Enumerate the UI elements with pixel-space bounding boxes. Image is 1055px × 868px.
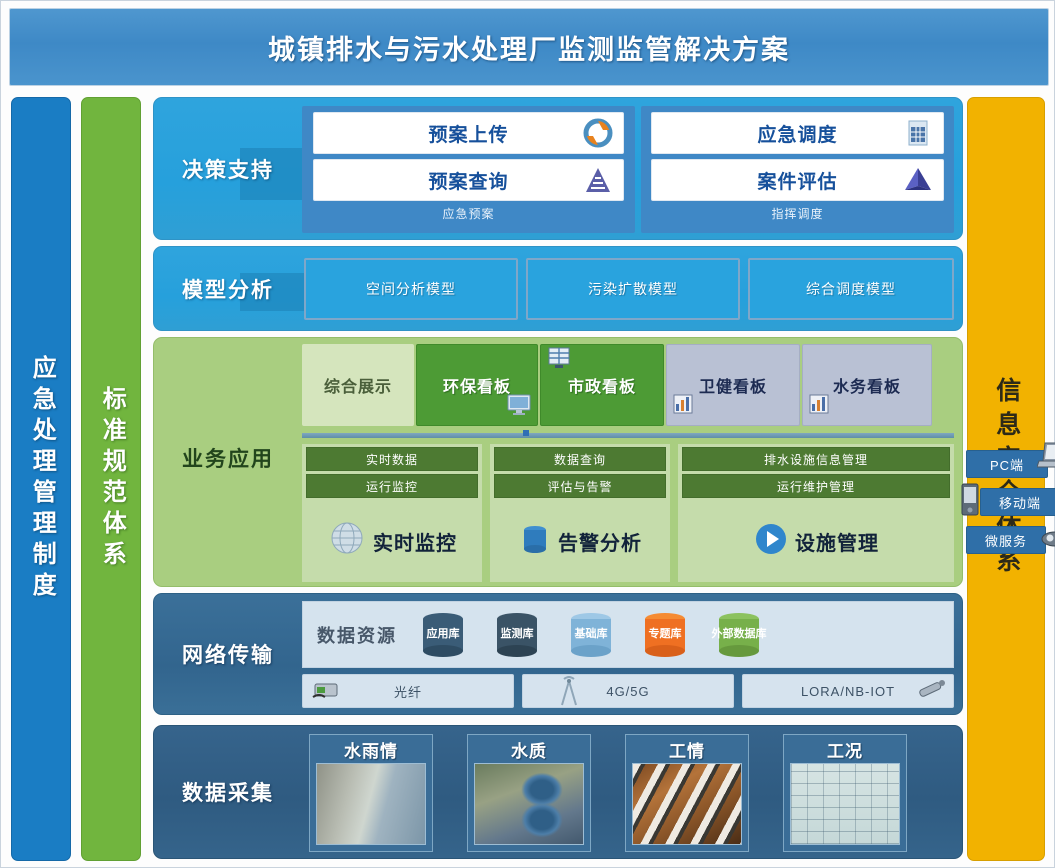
section-label-decision-support: 决策支持: [154, 98, 302, 239]
database-basic[interactable]: 基础库: [563, 611, 619, 659]
business-footer-realtime-monitoring[interactable]: 实时监控: [302, 510, 482, 572]
dashboard-separator-marker: [523, 430, 529, 436]
data-resource-panel: 数据资源 应用库 监测库: [302, 601, 954, 668]
decision-item-label: 预案上传: [428, 120, 508, 147]
grid-table-icon: [903, 118, 933, 148]
dashboard-row: 综合展示 环保看板 市政看板 卫健看板 水务看板: [302, 344, 954, 432]
scada-diagram-photo: [790, 763, 900, 845]
fiber-cable-icon: [311, 679, 341, 706]
decision-group-caption: 应急预案: [442, 205, 494, 222]
sedimentation-tank-photo: [474, 763, 584, 845]
business-tag[interactable]: 数据查询: [494, 447, 666, 471]
sidebar-standards-label: 标准规范体系: [98, 386, 124, 572]
section-data-collection: 数据采集 水雨情 水质 工情 工况: [153, 725, 963, 859]
device-label: PC端: [990, 455, 1024, 474]
dashboard-environment[interactable]: 环保看板: [416, 344, 538, 426]
cylinder-icon: [518, 519, 552, 564]
database-thematic[interactable]: 专题库: [637, 611, 693, 659]
collect-card-title: 工情: [626, 735, 748, 763]
chart-icon: [809, 394, 829, 419]
decision-item-plan-upload[interactable]: 预案上传: [313, 112, 624, 154]
diagram-canvas: 城镇排水与污水处理厂监测监管解决方案 应急处理管理制度 标准规范体系 信息安全体…: [0, 0, 1055, 868]
business-column-alarm: 数据查询 评估与告警 告警分析: [490, 444, 670, 582]
decision-group-caption: 指挥调度: [771, 205, 823, 222]
collect-card-engineering[interactable]: 工情: [625, 734, 749, 852]
river-channel-photo: [316, 763, 426, 845]
business-tag[interactable]: 运行监控: [306, 474, 478, 498]
diagram-title-bar: 城镇排水与污水处理厂监测监管解决方案: [9, 8, 1049, 86]
business-columns: 实时数据 运行监控 实时监控 数据查询 评估与告警 告警分析: [302, 444, 954, 582]
device-mobile[interactable]: 移动端: [980, 488, 1055, 516]
model-box-spatial[interactable]: 空间分析模型: [304, 258, 518, 320]
database-monitoring[interactable]: 监测库: [489, 611, 545, 659]
decision-item-case-evaluation[interactable]: 案件评估: [651, 159, 943, 201]
section-network-transmission: 网络传输 数据资源 应用库 监测库: [153, 593, 963, 715]
transmission-label: 光纤: [394, 682, 422, 701]
database-label: 监测库: [489, 611, 545, 659]
pipeline-trench-photo: [632, 763, 742, 845]
page-title: 城镇排水与污水处理厂监测监管解决方案: [268, 28, 790, 67]
dashboard-label: 市政看板: [568, 373, 636, 397]
database-external[interactable]: 外部数据库: [711, 611, 767, 659]
collect-card-water-quality[interactable]: 水质: [467, 734, 591, 852]
striped-pyramid-icon: [583, 165, 613, 195]
database-label: 应用库: [415, 611, 471, 659]
transmission-row: 光纤 4G/5G LORA/NB-IOT: [302, 674, 954, 708]
dashboard-row-label: 综合展示: [302, 344, 414, 426]
collect-card-title: 工况: [784, 735, 906, 763]
transmission-4g5g[interactable]: 4G/5G: [522, 674, 734, 708]
sensor-probe-icon: [915, 677, 949, 706]
model-box-integrated-dispatch[interactable]: 综合调度模型: [748, 258, 954, 320]
play-circle-icon: [753, 521, 789, 562]
collect-card-operating-condition[interactable]: 工况: [783, 734, 907, 852]
device-label: 移动端: [999, 493, 1041, 512]
device-microservice[interactable]: 微服务: [966, 526, 1046, 554]
business-tag[interactable]: 实时数据: [306, 447, 478, 471]
section-model-analysis: 模型分析 空间分析模型 污染扩散模型 综合调度模型: [153, 246, 963, 331]
dashboard-label: 环保看板: [443, 373, 511, 397]
transmission-fiber[interactable]: 光纤: [302, 674, 514, 708]
sidebar-emergency-label: 应急处理管理制度: [28, 355, 54, 603]
database-label: 专题库: [637, 611, 693, 659]
chart-icon: [673, 394, 693, 419]
globe-icon: [327, 519, 367, 564]
dashboard-water-affairs[interactable]: 水务看板: [802, 344, 932, 426]
laptop-icon: [1037, 441, 1055, 474]
section-label-data-collection: 数据采集: [154, 726, 302, 858]
decision-item-label: 预案查询: [428, 167, 508, 194]
business-footer-label: 告警分析: [558, 527, 642, 556]
section-label-network-transmission: 网络传输: [154, 594, 302, 714]
window-grid-icon: [547, 347, 571, 374]
database-label: 基础库: [563, 611, 619, 659]
business-tag[interactable]: 评估与告警: [494, 474, 666, 498]
device-access-group: PC端 移动端 微服务: [960, 450, 1055, 578]
business-column-facility: 排水设施信息管理 运行维护管理 设施管理: [678, 444, 954, 582]
business-footer-label: 设施管理: [795, 527, 879, 556]
device-label: 微服务: [985, 531, 1027, 550]
collect-card-title: 水雨情: [310, 735, 432, 763]
database-application[interactable]: 应用库: [415, 611, 471, 659]
dashboard-municipal[interactable]: 市政看板: [540, 344, 664, 426]
model-box-pollution-diffusion[interactable]: 污染扩散模型: [526, 258, 740, 320]
business-tag[interactable]: 排水设施信息管理: [682, 447, 950, 471]
section-label-business-application: 业务应用: [154, 408, 302, 508]
service-icon: [1039, 525, 1055, 554]
decision-group-command-dispatch: 应急调度 案件评估: [641, 106, 954, 233]
data-resource-label: 数据资源: [317, 622, 397, 648]
decision-item-label: 应急调度: [757, 120, 837, 147]
antenna-tower-icon: [557, 675, 581, 710]
dashboard-label: 水务看板: [833, 373, 901, 397]
decision-item-label: 案件评估: [757, 167, 837, 194]
transmission-label: 4G/5G: [606, 684, 649, 699]
mobile-phone-icon: [959, 483, 981, 520]
database-label: 外部数据库: [711, 611, 767, 659]
business-footer-facility-management[interactable]: 设施管理: [678, 510, 954, 572]
section-decision-support: 决策支持 预案上传 预案查询: [153, 97, 963, 240]
decision-item-plan-query[interactable]: 预案查询: [313, 159, 624, 201]
section-business-application: 业务应用 综合展示 环保看板 市政看板 卫健看板: [153, 337, 963, 587]
collect-card-title: 水质: [468, 735, 590, 763]
transmission-lora-nbiot[interactable]: LORA/NB-IOT: [742, 674, 954, 708]
transmission-label: LORA/NB-IOT: [801, 684, 895, 699]
monitor-icon: [507, 394, 531, 421]
sidebar-emergency-management: 应急处理管理制度: [11, 97, 71, 861]
business-footer-alarm-analysis[interactable]: 告警分析: [490, 510, 670, 572]
device-pc[interactable]: PC端: [966, 450, 1048, 478]
refresh-cycle-icon: [583, 118, 613, 148]
decision-group-emergency-plan: 预案上传 预案查询: [302, 106, 635, 233]
section-label-model-analysis: 模型分析: [154, 247, 302, 330]
business-tag[interactable]: 运行维护管理: [682, 474, 950, 498]
dashboard-health[interactable]: 卫健看板: [666, 344, 800, 426]
decision-item-emergency-dispatch[interactable]: 应急调度: [651, 112, 943, 154]
solid-pyramid-icon: [903, 165, 933, 195]
sidebar-standards-system: 标准规范体系: [81, 97, 141, 861]
dashboard-separator: [302, 433, 954, 438]
business-column-monitoring: 实时数据 运行监控 实时监控: [302, 444, 482, 582]
collect-card-rainfall[interactable]: 水雨情: [309, 734, 433, 852]
business-footer-label: 实时监控: [373, 527, 457, 556]
dashboard-label: 卫健看板: [699, 373, 767, 397]
